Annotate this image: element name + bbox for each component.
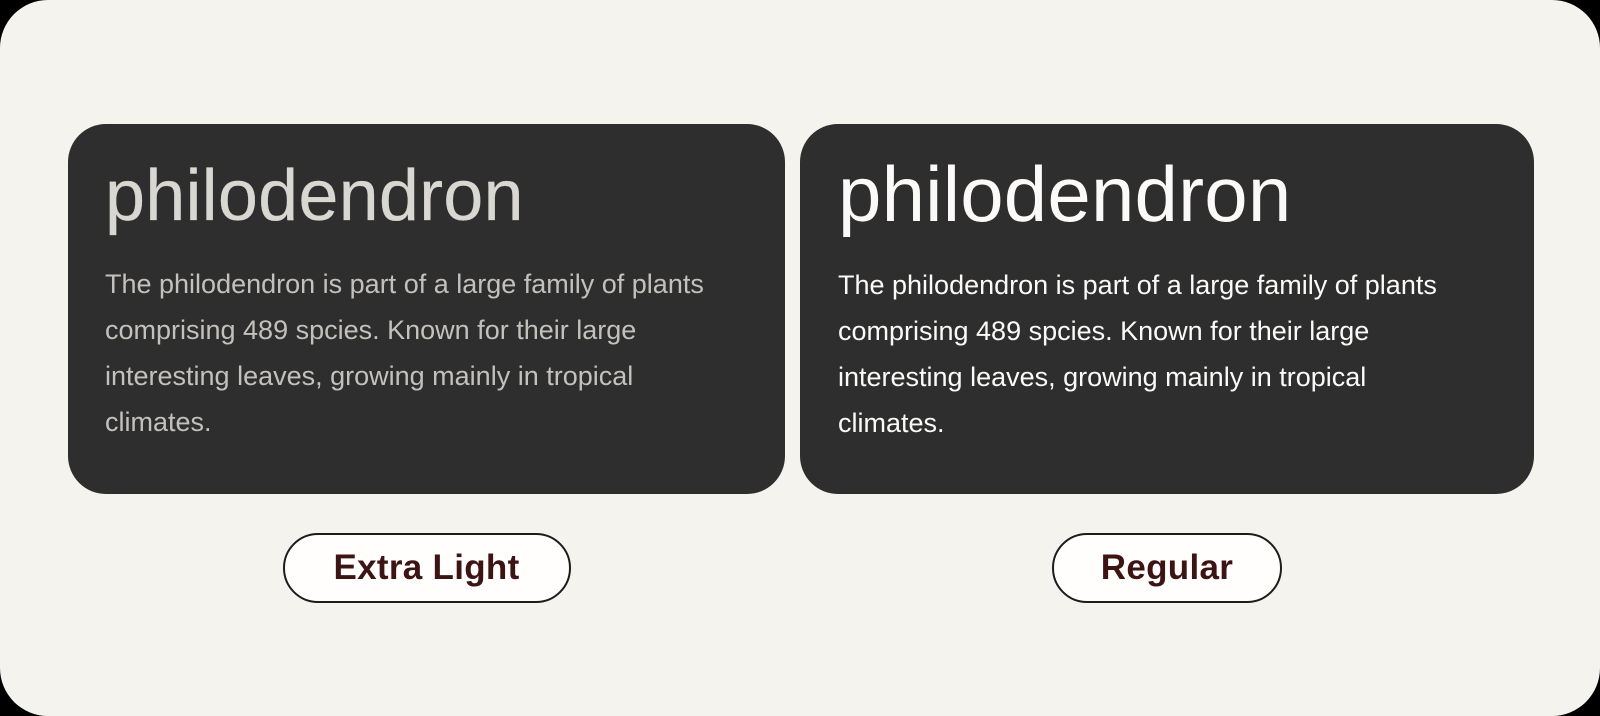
specimen-body-regular: The philodendron is part of a large fami… <box>838 262 1456 446</box>
page-canvas: philodendron The philodendron is part of… <box>0 0 1600 716</box>
specimen-columns: philodendron The philodendron is part of… <box>68 124 1534 603</box>
specimen-regular: philodendron The philodendron is part of… <box>800 124 1534 603</box>
specimen-body-extra-light: The philodendron is part of a large fami… <box>105 261 705 445</box>
card-content-regular: philodendron The philodendron is part of… <box>800 124 1534 446</box>
specimen-title-extra-light: philodendron <box>105 154 739 239</box>
specimen-card-extra-light: philodendron The philodendron is part of… <box>68 124 785 494</box>
specimen-card-regular: philodendron The philodendron is part of… <box>800 124 1534 494</box>
weight-label-regular[interactable]: Regular <box>1052 533 1282 603</box>
specimen-extra-light: philodendron The philodendron is part of… <box>68 124 785 603</box>
specimen-title-regular: philodendron <box>838 148 1488 240</box>
weight-label-extra-light[interactable]: Extra Light <box>283 533 571 603</box>
card-content-extra-light: philodendron The philodendron is part of… <box>68 124 785 445</box>
